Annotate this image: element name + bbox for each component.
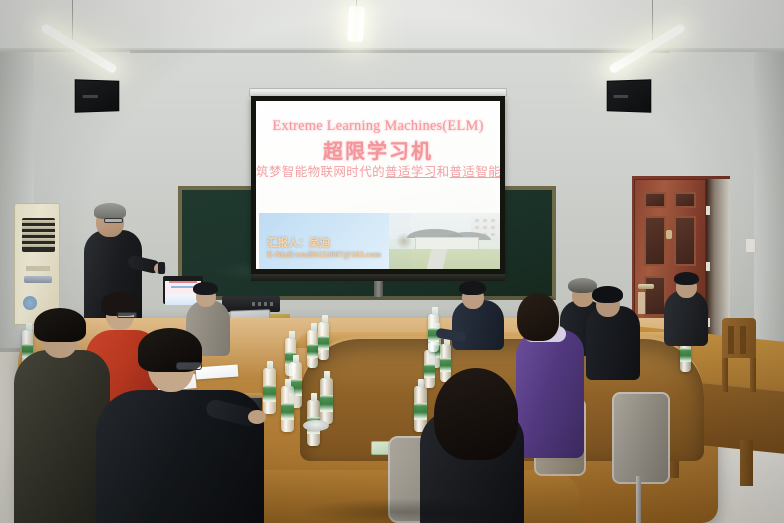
attendee-hair: [517, 293, 559, 341]
wooden-chair[interactable]: [716, 318, 762, 392]
door-panel-mid-right: [674, 216, 696, 266]
projection-screen-frame: Extreme Learning Machines(ELM) 超限学习机 筑梦智…: [251, 96, 505, 274]
water-bottle[interactable]: [307, 330, 318, 368]
presenter-glasses: [104, 218, 123, 223]
projection-screen-support: [374, 281, 383, 297]
door-panel-upper-right: [674, 192, 696, 208]
door-panel-mid-left: [644, 216, 666, 266]
presentation-remote[interactable]: [158, 262, 165, 274]
door-lock-plate: [638, 292, 645, 314]
presenter-hair: [94, 203, 126, 219]
attendee-glasses: [176, 362, 202, 370]
ceiling-tube-light-center: [347, 6, 365, 43]
slide-lower-area: 汇报人：吴迪 E-Mail:wudi6152007@163.com: [259, 213, 500, 269]
wooden-chair-slat: [740, 326, 746, 354]
attendee-torso: [516, 330, 584, 458]
slide-upper-area: Extreme Learning Machines(ELM) 超限学习机 筑梦智…: [256, 101, 500, 213]
attendee-hair: [193, 282, 218, 295]
table-shadow: [300, 498, 500, 523]
wall-right-return: [754, 52, 784, 352]
ac-sticker: [23, 296, 37, 310]
attendee-torso: [586, 306, 640, 380]
water-bottle[interactable]: [318, 322, 329, 360]
wall-speaker-left: [75, 79, 120, 113]
projection-screen-surface: Extreme Learning Machines(ELM) 超限学习机 筑梦智…: [256, 101, 500, 269]
slide-subtitle-prefix: 筑梦智能物联网时代的: [256, 164, 385, 179]
water-bottle[interactable]: [263, 368, 276, 414]
mesh-office-chair[interactable]: [612, 392, 670, 484]
slide-title-chinese: 超限学习机: [256, 135, 500, 164]
slide-subtitle: 筑梦智能物联网时代的普适学习和普适智能: [256, 161, 500, 180]
attendee-hand: [248, 410, 266, 424]
water-bottle[interactable]: [320, 378, 333, 424]
water-bottle[interactable]: [424, 350, 435, 388]
attendee-glasses: [117, 312, 137, 318]
attendee-torso: [664, 290, 708, 346]
ashtray: [303, 420, 329, 431]
slide-presenter-email: E-Mail:wudi6152007@163.com: [267, 249, 381, 259]
slide-campus-photo: [389, 213, 500, 269]
classroom-presentation-scene: Extreme Learning Machines(ELM) 超限学习机 筑梦智…: [0, 0, 784, 523]
light-switch[interactable]: [745, 238, 756, 253]
wall-speaker-right: [607, 79, 652, 113]
table-leg-2: [740, 440, 753, 486]
projection-screen-bottom-bar: [251, 274, 505, 281]
ceiling: [0, 0, 784, 52]
slide-subtitle-link-1: 普适学习: [385, 164, 437, 179]
door-panel-lower-left: [644, 276, 666, 316]
door-panel-upper-left: [644, 192, 666, 208]
slide-presenter-name: 汇报人：吴迪: [267, 235, 330, 250]
slide-title-english: Extreme Learning Machines(ELM): [256, 118, 500, 135]
floor-standing-air-conditioner[interactable]: [14, 203, 60, 325]
ac-control-badge[interactable]: [24, 276, 52, 283]
attendee-hair: [434, 368, 518, 460]
speaker-brand-left: [83, 95, 98, 98]
ac-vents: [22, 218, 55, 252]
attendee-hair: [34, 308, 86, 342]
chair-stem: [636, 476, 641, 523]
water-bottle[interactable]: [281, 386, 294, 432]
wooden-chair-slat: [728, 326, 734, 354]
speaker-brand-right: [614, 95, 628, 98]
wooden-chair-leg: [722, 358, 728, 392]
slide-subtitle-join: 和: [437, 164, 450, 179]
monitor-text-line-1: [169, 281, 197, 283]
monitor-text-line-2: [171, 286, 195, 288]
attendee-hair: [592, 286, 623, 303]
door-handle[interactable]: [638, 284, 654, 289]
wall-rail: [130, 50, 670, 53]
attendee-hair: [674, 272, 699, 285]
attendee-hair: [459, 281, 486, 295]
slide-subtitle-link-2: 普适智能: [450, 164, 500, 179]
ac-brand-label: [26, 266, 50, 271]
water-bottle[interactable]: [440, 344, 451, 382]
door-knob[interactable]: [666, 230, 672, 239]
wooden-chair-leg: [750, 358, 756, 392]
